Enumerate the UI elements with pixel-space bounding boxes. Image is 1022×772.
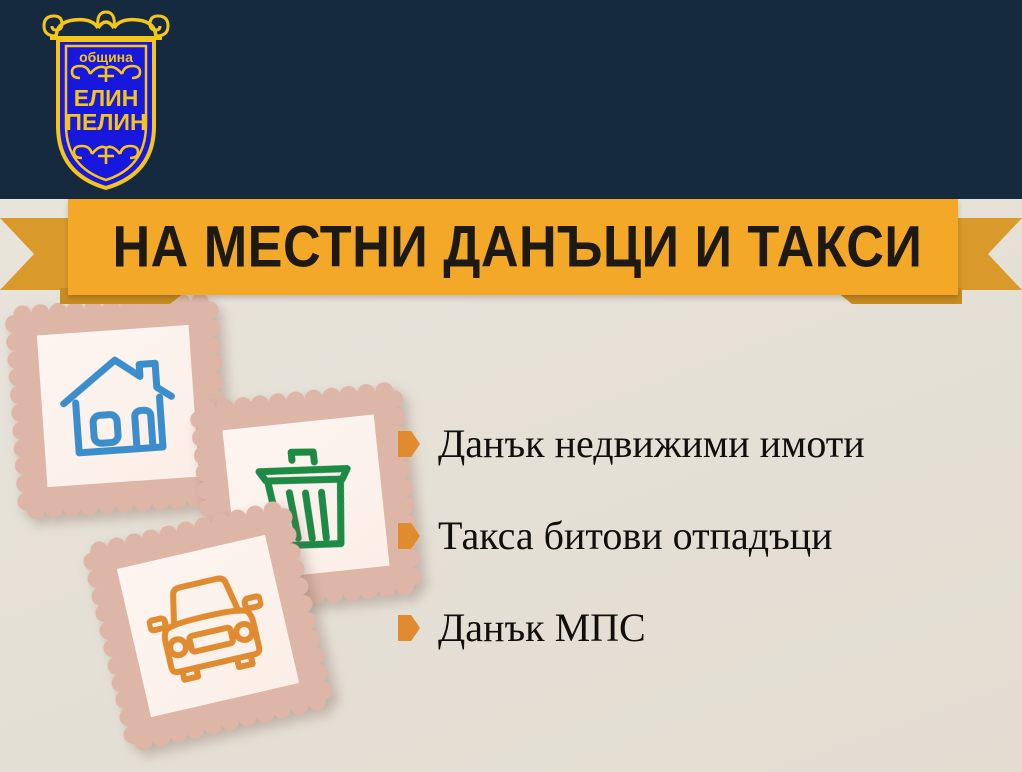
bullet-arrow-icon bbox=[398, 523, 420, 549]
bullet-arrow-icon bbox=[398, 431, 420, 457]
list-item[interactable]: Такса битови отпадъци bbox=[398, 516, 1018, 556]
subtitle-ribbon: НА МЕСТНИ ДАНЪЦИ И ТАКСИ bbox=[0, 196, 1022, 306]
list-item[interactable]: Данък МПС bbox=[398, 608, 1018, 648]
logo: община ЕЛИН ПЕЛИН bbox=[36, 6, 176, 192]
list-item-label: Данък МПС bbox=[438, 608, 646, 648]
list-item-label: Такса битови отпадъци bbox=[438, 516, 833, 556]
ribbon-banner: НА МЕСТНИ ДАНЪЦИ И ТАКСИ bbox=[68, 199, 958, 295]
poster-canvas: община ЕЛИН ПЕЛИН ПРОВЕРКА И ПЛАЩАНЕ НА … bbox=[0, 0, 1022, 772]
stamp-inner bbox=[37, 325, 199, 487]
logo-top-word: община bbox=[79, 49, 133, 65]
ribbon-label: НА МЕСТНИ ДАНЪЦИ И ТАКСИ bbox=[113, 214, 914, 281]
bullet-arrow-icon bbox=[398, 615, 420, 641]
logo-name-line1: ЕЛИН bbox=[74, 85, 139, 111]
coat-of-arms-icon: община ЕЛИН ПЕЛИН bbox=[36, 6, 176, 192]
tax-type-list: Данък недвижими имоти Такса битови отпад… bbox=[398, 424, 1018, 648]
house-icon bbox=[54, 348, 181, 464]
car-front-icon bbox=[139, 562, 277, 690]
list-item[interactable]: Данък недвижими имоти bbox=[398, 424, 1018, 464]
stamp-card-group bbox=[0, 300, 430, 772]
logo-name-line2: ПЕЛИН bbox=[65, 109, 146, 135]
stamp-card-car bbox=[90, 508, 325, 743]
list-item-label: Данък недвижими имоти bbox=[438, 424, 865, 464]
